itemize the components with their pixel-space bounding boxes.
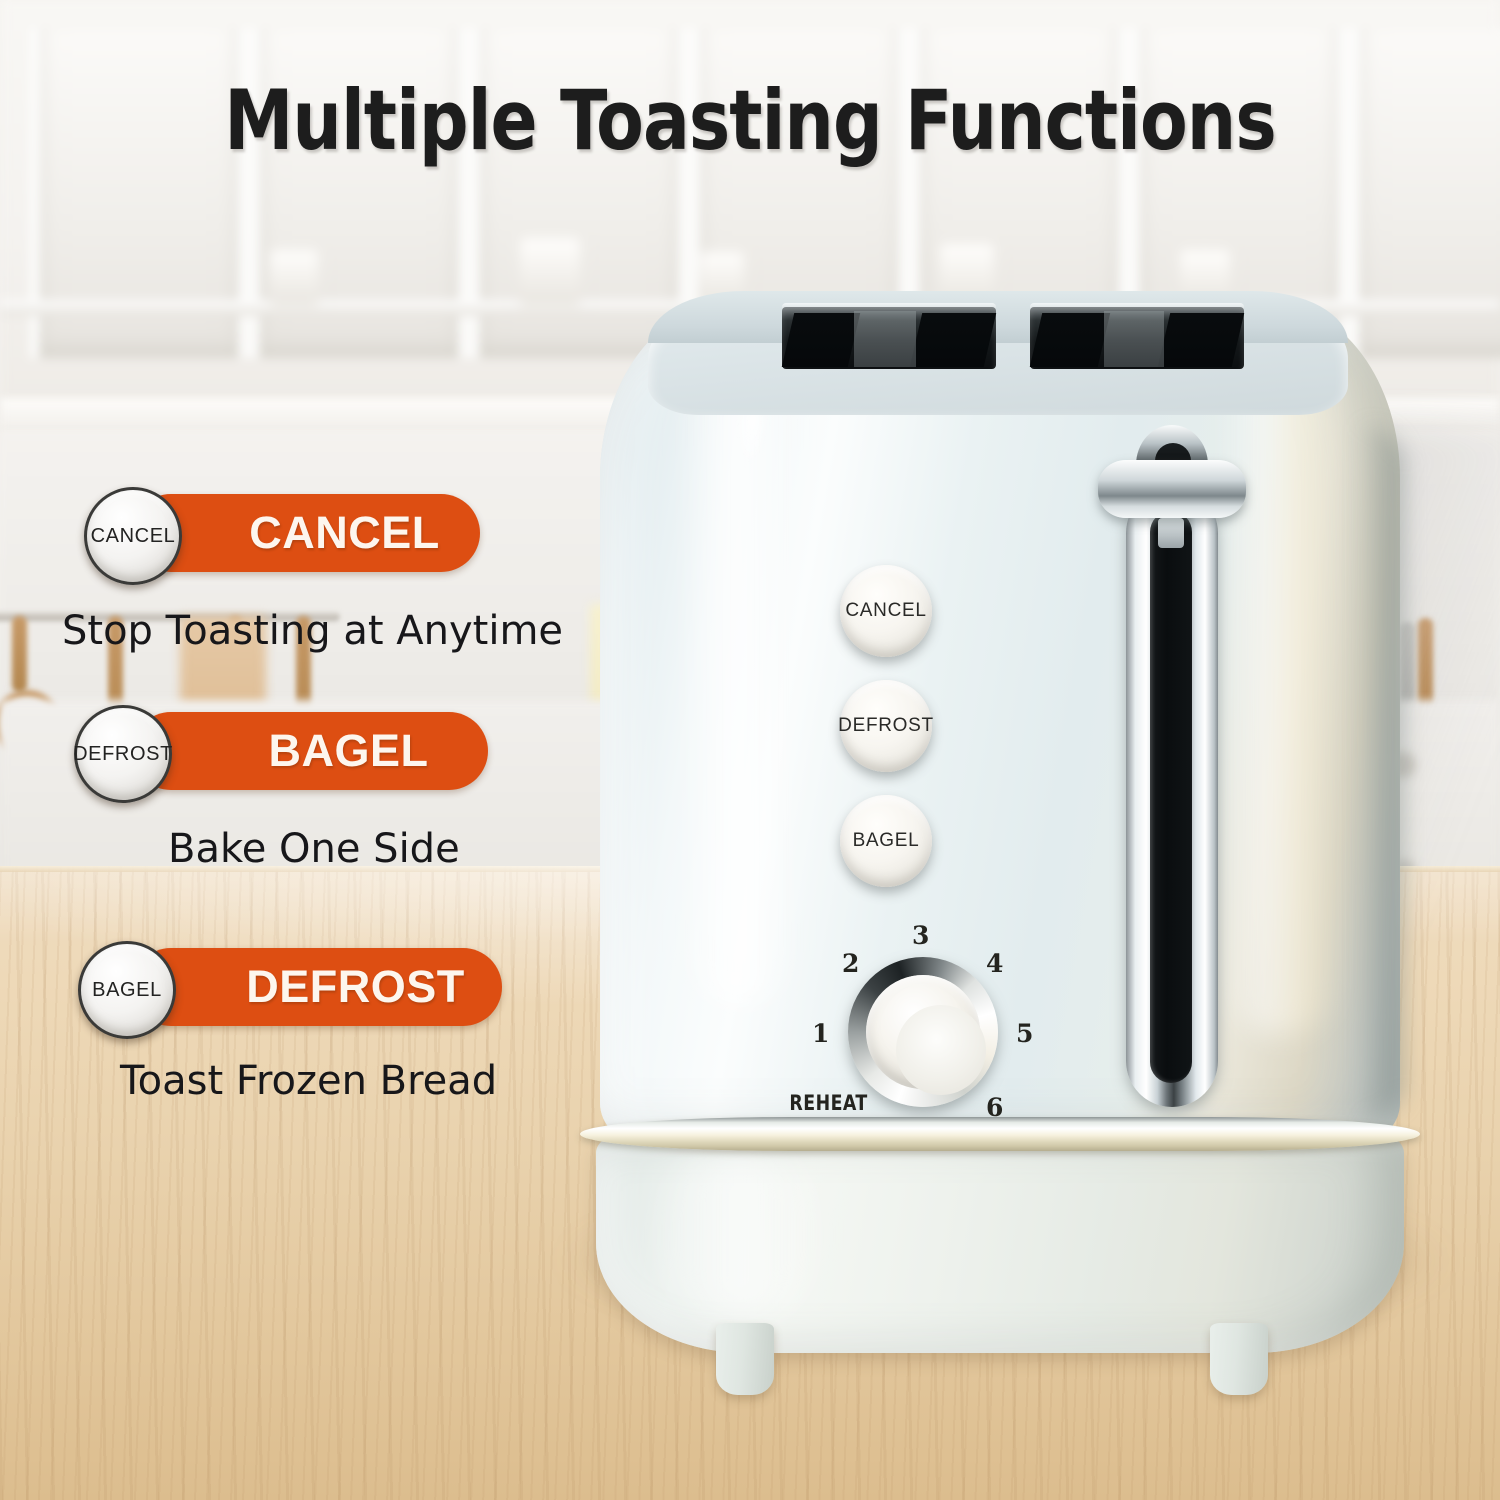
product-feature-image: Multiple Toasting Functions CAN <box>0 0 1500 1500</box>
callout-pill-defrost[interactable]: DEFROST <box>132 948 502 1026</box>
toaster-button-bagel[interactable]: BAGEL <box>840 795 932 887</box>
dial-number-1: 1 <box>812 1019 829 1048</box>
callout-badge-defrost: BAGEL <box>78 941 176 1039</box>
base-highlight <box>650 1155 830 1315</box>
body-edge-shading <box>1358 425 1404 1115</box>
callout-subtitle-defrost: Toast Frozen Bread <box>120 1058 497 1104</box>
lever-channel <box>1150 511 1192 1083</box>
lever-knob-base <box>1098 460 1246 518</box>
callout-badge-defrost-label: BAGEL <box>92 978 162 1001</box>
page-title: Multiple Toasting Functions <box>53 72 1448 169</box>
toaster-foot-left <box>716 1323 774 1395</box>
toaster-foot-right <box>1210 1323 1268 1395</box>
lever-tab <box>1158 518 1184 548</box>
callout-pill-bagel[interactable]: BAGEL <box>132 712 488 790</box>
chrome-trim-band <box>580 1117 1420 1151</box>
toaster-button-bagel-label: BAGEL <box>853 830 920 852</box>
toaster-button-cancel[interactable]: CANCEL <box>840 565 932 657</box>
callout-badge-cancel: CANCEL <box>84 487 182 585</box>
callout-pill-bagel-label: BAGEL <box>174 725 447 777</box>
toaster-button-defrost[interactable]: DEFROST <box>840 680 932 772</box>
dial-number-4: 4 <box>986 949 1003 978</box>
toaster-button-defrost-label: DEFROST <box>838 715 934 737</box>
toaster-product: CANCEL DEFROST BAGEL 1 2 3 4 5 6 REHEAT <box>530 275 1450 1335</box>
callout-badge-cancel-label: CANCEL <box>91 524 176 547</box>
dial-number-2: 2 <box>842 949 859 978</box>
dial-inner-ring <box>866 975 980 1089</box>
callout-pill-defrost-label: DEFROST <box>151 961 483 1013</box>
callout-pill-cancel[interactable]: CANCEL <box>132 494 480 572</box>
dial-number-3: 3 <box>912 921 929 950</box>
browning-dial[interactable] <box>848 957 998 1107</box>
dial-reheat-label: REHEAT <box>789 1091 867 1115</box>
callout-pill-cancel-label: CANCEL <box>154 507 458 559</box>
callout-subtitle-bagel: Bake One Side <box>168 826 460 872</box>
browning-dial-group: 1 2 3 4 5 6 REHEAT <box>800 915 1060 1145</box>
callout-badge-bagel: DEFROST <box>74 705 172 803</box>
toaster-button-cancel-label: CANCEL <box>845 600 926 622</box>
callout-subtitle-cancel: Stop Toasting at Anytime <box>62 608 563 654</box>
body-gloss-right <box>1220 335 1338 1035</box>
dial-number-5: 5 <box>1016 1019 1033 1048</box>
dial-face <box>896 1005 986 1095</box>
callout-badge-bagel-label: DEFROST <box>73 742 173 765</box>
